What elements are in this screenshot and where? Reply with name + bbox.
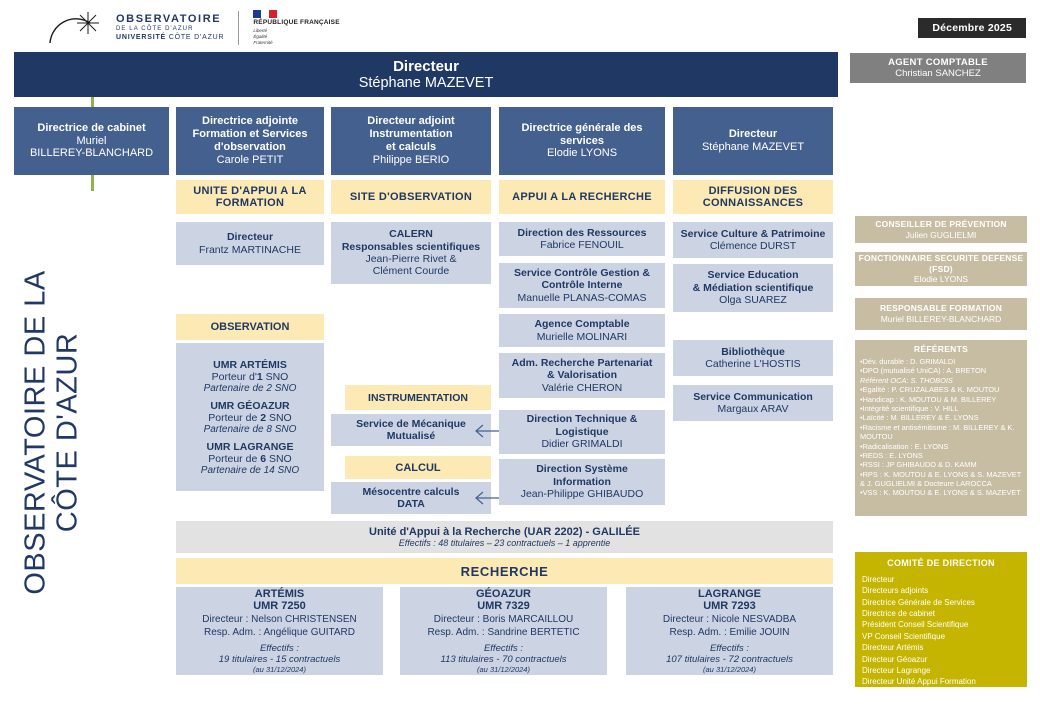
porteur-pre-0: Porteur d' xyxy=(212,371,257,383)
appui-title-4: Direction Technique & Logistique xyxy=(527,413,638,438)
uar-title: Unité d'Appui à la Recherche (UAR 2202) … xyxy=(369,526,640,538)
umr-date-0: (au 31/12/2024) xyxy=(253,665,306,674)
director-name-instrumentation: Philippe BERIO xyxy=(373,154,449,167)
section-header-site: SITE D'OBSERVATION xyxy=(331,180,491,214)
appui-name-3: Valérie CHERON xyxy=(542,382,622,394)
referents-box: RÉFÉRENTS •Dév. durable : D. GRIMALDI •D… xyxy=(855,340,1027,516)
responsable-formation-name: Muriel BILLEREY-BLANCHARD xyxy=(881,314,1002,325)
connector-cabinet-top xyxy=(91,97,94,107)
uar-effectifs: Effectifs : 48 titulaires – 23 contractu… xyxy=(399,538,611,548)
appui-box-agence: Agence Comptable Murielle MOLINARI xyxy=(499,314,665,347)
referent-item: •Racisme et antisémitisme : M. BILLEREY … xyxy=(860,423,1022,442)
appui-name-4: Didier GRIMALDI xyxy=(541,438,622,450)
director-role-formation: Directrice adjointe Formation et Service… xyxy=(193,115,308,154)
fsd-box: FONCTIONNAIRE SECURITE DEFENSE (FSD) Elo… xyxy=(855,252,1027,286)
section-header-uaf: UNITE D'APPUI A LA FORMATION xyxy=(176,180,324,214)
appui-box-technique: Direction Technique & Logistique Didier … xyxy=(499,410,665,454)
observation-unit-artemis: UMR ARTÉMIS Porteur d'1 SNO Partenaire d… xyxy=(204,359,297,394)
director-box-formation: Directrice adjointe Formation et Service… xyxy=(176,107,324,175)
date-badge: Décembre 2025 xyxy=(918,18,1026,38)
comite-item: Directeurs adjoints xyxy=(862,585,1020,596)
diffusion-title-0: Service Culture & Patrimoine xyxy=(681,228,826,240)
header-director-box: Directeur Stéphane MAZEVET xyxy=(14,52,838,97)
umr-directeur-2: Directeur : Nicole NESVADBA xyxy=(663,614,796,625)
umr-code-0: UMR 7250 xyxy=(253,600,306,612)
logo-universite-bold: UNIVERSITÉ xyxy=(116,34,166,41)
diffusion-name-3: Margaux ARAV xyxy=(717,403,788,415)
diffusion-name-0: Clémence DURST xyxy=(710,240,796,252)
observation-unit-geoazur: UMR GÉOAZUR Porteur de 2 SNO Partenaire … xyxy=(204,400,297,435)
diffusion-box-culture: Service Culture & Patrimoine Clémence DU… xyxy=(673,222,833,258)
mesocentre-title: Mésocentre calculs DATA xyxy=(363,486,460,511)
referent-item: •Intégrité scientifique : V. HILL xyxy=(860,404,1022,413)
director-box-cabinet: Directrice de cabinet Muriel BILLEREY-BL… xyxy=(14,107,169,175)
org-chart-page: OBSERVATOIRE DE LA CÔTE D'AZUR UNIVERSIT… xyxy=(0,0,1040,720)
director-name-cabinet: Muriel BILLEREY-BLANCHARD xyxy=(30,135,153,161)
appui-title-5: Direction Système Information xyxy=(536,463,628,488)
conseiller-name: Julien GUGLIELMI xyxy=(906,230,977,241)
fsd-title: FONCTIONNAIRE SECURITE DEFENSE (FSD) xyxy=(859,253,1024,274)
appui-title-1: Service Contrôle Gestion & Contrôle Inte… xyxy=(514,267,650,292)
umr-directeur-1: Directeur : Boris MARCAILLOU xyxy=(434,614,573,625)
director-name-directeur: Stéphane MAZEVET xyxy=(702,141,804,154)
umr-respadm-1: Resp. Adm. : Sandrine BERTETIC xyxy=(427,627,579,638)
observation-unit-name-1: UMR GÉOAZUR xyxy=(204,400,297,412)
porteur-post-0: SNO xyxy=(263,371,289,383)
section-header-instrumentation: INSTRUMENTATION xyxy=(345,385,491,410)
umr-box-artemis: ARTÉMIS UMR 7250 Directeur : Nelson CHRI… xyxy=(176,587,383,675)
observation-unit-porteur-1: Porteur de 2 SNO xyxy=(204,412,297,424)
appui-box-dsi: Direction Système Information Jean-Phili… xyxy=(499,459,665,505)
observation-unit-porteur-0: Porteur d'1 SNO xyxy=(204,371,297,383)
observation-unit-partenaire-0: Partenaire de 2 SNO xyxy=(204,383,297,394)
vertical-page-title: OBSERVATOIRE DE LA CÔTE D'AZUR xyxy=(20,262,85,602)
conseiller-title: CONSEILLER DE PRÉVENTION xyxy=(875,219,1006,230)
comite-item: Directeur xyxy=(862,574,1020,585)
republique-title: RÉPUBLIQUE FRANÇAISE xyxy=(253,20,339,27)
diffusion-name-2: Catherine L'HOSTIS xyxy=(705,358,800,370)
porteur-pre-1: Porteur de xyxy=(208,412,260,424)
referent-item: •RPS : K. MOUTOU & E. LYONS & S. MAZEVET… xyxy=(860,470,1022,489)
umr-effectifs-label-2: Effectifs : xyxy=(710,643,749,654)
header-director-role: Directeur xyxy=(393,58,459,75)
director-name-formation: Carole PETIT xyxy=(217,154,284,167)
referent-item: •Egalité : P. CRUZALABES & K. MOUTOU xyxy=(860,385,1022,394)
porteur-post-1: SNO xyxy=(266,412,292,424)
appui-box-ressources: Direction des Ressources Fabrice FENOUIL xyxy=(499,222,665,256)
umr-box-geoazur: GÉOAZUR UMR 7329 Directeur : Boris MARCA… xyxy=(400,587,607,675)
referent-item: •Dév. durable : D. GRIMALDI xyxy=(860,357,1022,366)
umr-name-0: ARTÉMIS xyxy=(255,588,305,600)
logo-line-cote-azur: DE LA CÔTE D'AZUR xyxy=(116,26,224,32)
section-header-observation: OBSERVATION xyxy=(176,314,324,340)
referent-item: •VSS : K. MOUTOU & E. LYONS & S. MAZEVET xyxy=(860,488,1022,497)
appui-name-5: Jean-Philippe GHIBAUDO xyxy=(521,488,644,500)
umr-effectifs-label-1: Effectifs : xyxy=(484,643,523,654)
comite-item: Directeur Géoazur xyxy=(862,654,1020,665)
appui-title-0: Direction des Ressources xyxy=(518,227,647,239)
referent-item: •DPO (mutualisé UniCA) : A. BRETON xyxy=(860,366,1022,375)
logo-header: OBSERVATOIRE DE LA CÔTE D'AZUR UNIVERSIT… xyxy=(48,10,340,46)
logo-universite-rest: CÔTE D'AZUR xyxy=(166,34,224,41)
comite-direction-box: COMITÉ DE DIRECTION Directeur Directeurs… xyxy=(855,552,1027,687)
appui-name-0: Fabrice FENOUIL xyxy=(540,239,623,251)
director-name-dgs: Elodie LYONS xyxy=(547,147,617,160)
comite-item: VP Conseil Scientifique xyxy=(862,631,1020,642)
umr-directeur-0: Directeur : Nelson CHRISTENSEN xyxy=(202,614,356,625)
uaf-director-name: Frantz MARTINACHE xyxy=(199,244,301,256)
referent-item: •Handicap : K. MOUTOU & M. BILLEREY xyxy=(860,395,1022,404)
header-director-name: Stéphane MAZEVET xyxy=(359,75,494,91)
referent-item: Référent OCA: S. THOBOIS xyxy=(860,376,1022,385)
uaf-director-role: Directeur xyxy=(227,231,273,243)
diffusion-title-2: Bibliothèque xyxy=(721,346,785,358)
responsable-formation-title: RESPONSABLE FORMATION xyxy=(880,303,1002,314)
observation-unit-name-0: UMR ARTÉMIS xyxy=(204,359,297,371)
comite-item: Directrice de cabinet xyxy=(862,608,1020,619)
observation-unit-partenaire-1: Partenaire de 8 SNO xyxy=(204,424,297,435)
observation-unit-name-2: UMR LAGRANGE xyxy=(201,441,299,453)
director-box-directeur: Directeur Stéphane MAZEVET xyxy=(673,107,833,175)
calern-box: CALERN Responsables scientifiques Jean-P… xyxy=(331,222,491,284)
director-box-dgs: Directrice générale des services Elodie … xyxy=(499,107,665,175)
referent-item: •Radicalisation : E. LYONS xyxy=(860,442,1022,451)
umr-effectifs-0: 19 titulaires - 15 contractuels xyxy=(219,654,340,665)
section-header-appui: APPUI A LA RECHERCHE xyxy=(499,180,665,214)
observation-unit-partenaire-2: Partenaire de 14 SNO xyxy=(201,465,299,476)
diffusion-box-bibliotheque: Bibliothèque Catherine L'HOSTIS xyxy=(673,340,833,376)
appui-box-adm: Adm. Recherche Partenariat & Valorisatio… xyxy=(499,353,665,398)
observation-unit-lagrange: UMR LAGRANGE Porteur de 6 SNO Partenaire… xyxy=(201,441,299,476)
umr-name-2: LAGRANGE xyxy=(698,588,761,600)
director-role-directeur: Directeur xyxy=(729,128,777,141)
calern-title: CALERN Responsables scientifiques xyxy=(342,228,480,253)
oca-logo-icon xyxy=(48,10,106,46)
director-role-cabinet: Directrice de cabinet xyxy=(37,122,145,135)
logo-line-observatoire: OBSERVATOIRE xyxy=(116,14,224,26)
observation-unit-porteur-2: Porteur de 6 SNO xyxy=(201,453,299,465)
connector-cabinet xyxy=(91,175,94,191)
director-role-instrumentation: Directeur adjoint Instrumentation et cal… xyxy=(367,115,454,154)
logo-divider xyxy=(238,11,239,45)
responsable-formation-box: RESPONSABLE FORMATION Muriel BILLEREY-BL… xyxy=(855,298,1027,330)
porteur-post-2: SNO xyxy=(266,453,292,465)
porteur-pre-2: Porteur de xyxy=(208,453,260,465)
appui-box-controle: Service Contrôle Gestion & Contrôle Inte… xyxy=(499,263,665,308)
section-header-calcul: CALCUL xyxy=(345,456,491,479)
diffusion-name-1: Olga SUAREZ xyxy=(719,294,787,306)
agent-comptable-box: AGENT COMPTABLE Christian SANCHEZ xyxy=(850,53,1026,83)
republique-francaise-logo: RÉPUBLIQUE FRANÇAISE Liberté Égalité Fra… xyxy=(253,10,339,46)
agent-comptable-name: Christian SANCHEZ xyxy=(895,68,981,79)
agent-comptable-title: AGENT COMPTABLE xyxy=(888,57,988,68)
logo-wordmark: OBSERVATOIRE DE LA CÔTE D'AZUR UNIVERSIT… xyxy=(116,14,224,41)
director-box-instrumentation: Directeur adjoint Instrumentation et cal… xyxy=(331,107,491,175)
fsd-name: Elodie LYONS xyxy=(914,274,968,285)
diffusion-box-communication: Service Communication Margaux ARAV xyxy=(673,385,833,421)
umr-respadm-0: Resp. Adm. : Angélique GUITARD xyxy=(204,627,355,638)
umr-name-1: GÉOAZUR xyxy=(476,588,531,600)
umr-date-1: (au 31/12/2024) xyxy=(477,665,530,674)
umr-box-lagrange: LAGRANGE UMR 7293 Directeur : Nicole NES… xyxy=(626,587,833,675)
appui-name-1: Manuelle PLANAS-COMAS xyxy=(518,292,647,304)
umr-effectifs-1: 113 titulaires - 70 contractuels xyxy=(440,654,566,665)
diffusion-box-education: Service Education & Médiation scientifiq… xyxy=(673,264,833,312)
section-header-recherche: RECHERCHE xyxy=(176,558,833,584)
umr-code-1: UMR 7329 xyxy=(477,600,530,612)
logo-line-universite: UNIVERSITÉ CÔTE D'AZUR xyxy=(116,34,224,41)
referent-item: •REDS : E. LYONS xyxy=(860,451,1022,460)
director-role-dgs: Directrice générale des services xyxy=(521,122,642,148)
calern-names: Jean-Pierre Rivet & Clément Courde xyxy=(365,253,456,278)
conseiller-prevention-box: CONSEILLER DE PRÉVENTION Julien GUGLIELM… xyxy=(855,216,1027,243)
referent-item: •Laïcité : M. BILLEREY & E. LYONS xyxy=(860,413,1022,422)
mesocentre-box: Mésocentre calculs DATA xyxy=(331,482,491,514)
uaf-director-box: Directeur Frantz MARTINACHE xyxy=(176,222,324,265)
umr-effectifs-2: 107 titulaires - 72 contractuels xyxy=(666,654,793,665)
comite-item: Directrice Générale de Services xyxy=(862,597,1020,608)
mecanique-box: Service de Mécanique Mutualisé xyxy=(331,414,491,446)
observation-units-box: UMR ARTÉMIS Porteur d'1 SNO Partenaire d… xyxy=(176,343,324,491)
comite-item: Directeur Artémis xyxy=(862,642,1020,653)
umr-respadm-2: Resp. Adm. : Emilie JOUIN xyxy=(669,627,789,638)
diffusion-title-1: Service Education & Médiation scientifiq… xyxy=(693,269,814,294)
section-header-diffusion: DIFFUSION DES CONNAISSANCES xyxy=(673,180,833,214)
referent-item: •RSSI : JP GHIBAUDO & D. KAMM xyxy=(860,460,1022,469)
uar-galilee-box: Unité d'Appui à la Recherche (UAR 2202) … xyxy=(176,521,833,553)
umr-date-2: (au 31/12/2024) xyxy=(703,665,756,674)
appui-title-3: Adm. Recherche Partenariat & Valorisatio… xyxy=(512,357,653,382)
french-flag-icon xyxy=(253,10,277,18)
diffusion-title-3: Service Communication xyxy=(693,391,813,403)
umr-effectifs-label-0: Effectifs : xyxy=(260,643,299,654)
referents-title: RÉFÉRENTS xyxy=(860,344,1022,354)
comite-item: Président Conseil Scientifique xyxy=(862,619,1020,630)
republique-motto: Liberté Égalité Fraternité xyxy=(253,28,339,46)
comite-item: Directeur Lagrange xyxy=(862,665,1020,676)
appui-name-2: Murielle MOLINARI xyxy=(537,331,627,343)
comite-item: Directeur Unité Appui Formation xyxy=(862,676,1020,687)
appui-title-2: Agence Comptable xyxy=(534,318,629,330)
umr-code-2: UMR 7293 xyxy=(703,600,756,612)
mecanique-title: Service de Mécanique Mutualisé xyxy=(356,418,466,443)
comite-title: COMITÉ DE DIRECTION xyxy=(862,558,1020,568)
